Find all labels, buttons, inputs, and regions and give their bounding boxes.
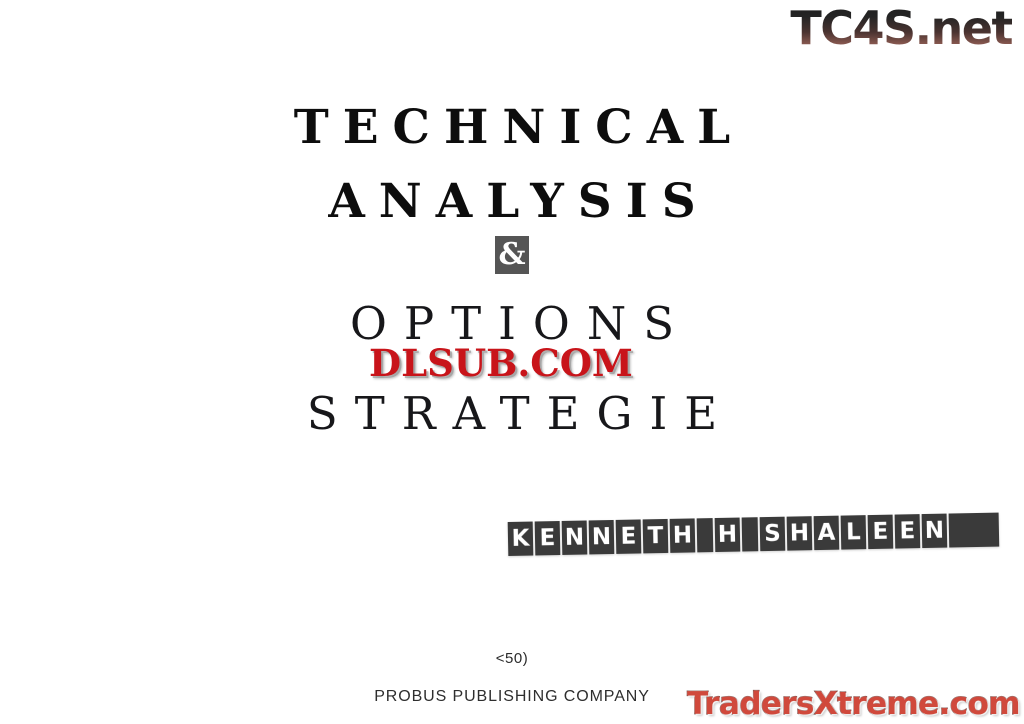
author-tile-letter: E xyxy=(535,521,561,555)
author-tile-letter: H xyxy=(670,518,696,552)
author-tile-letter: H xyxy=(715,518,741,552)
author-tile-space xyxy=(697,518,714,552)
author-tile-letter: E xyxy=(868,515,894,549)
scan-artifact-text: <50) xyxy=(0,650,1024,667)
author-tile-space xyxy=(742,517,759,551)
author-tile-letter: K xyxy=(508,522,534,556)
watermark-tc4s: TC4S.net xyxy=(790,2,1012,54)
author-tile-letter: H xyxy=(787,516,813,550)
author-tile-letter: L xyxy=(841,515,867,549)
author-tile-blank xyxy=(949,513,1000,548)
watermark-tradersxtreme: TradersXtreme.com xyxy=(687,686,1020,722)
cover-title-line-technical: TECHNICAL xyxy=(0,100,1024,155)
author-tile-letter: T xyxy=(643,519,669,553)
cover-subtitle-line-strategie: STRATEGIE xyxy=(0,387,1024,440)
author-tile-letter: N xyxy=(562,520,588,554)
author-tile-letter: A xyxy=(814,516,840,550)
author-name-plate: KENNETH H SHALEEN xyxy=(508,513,1000,556)
author-tile-letter: N xyxy=(922,514,948,548)
cover-title-line-analysis: ANALYSIS xyxy=(0,174,1024,229)
author-tile-letter: N xyxy=(589,520,615,554)
book-cover-page: TC4S.net TECHNICAL ANALYSIS & OPTIONS ST… xyxy=(0,0,1024,724)
ampersand-tile: & xyxy=(495,236,529,274)
author-tile-letter: E xyxy=(895,514,921,548)
author-tile-letter: E xyxy=(616,519,642,553)
watermark-dlsub: DLSUB.COM xyxy=(369,341,633,385)
author-tile-letter: S xyxy=(760,517,786,551)
